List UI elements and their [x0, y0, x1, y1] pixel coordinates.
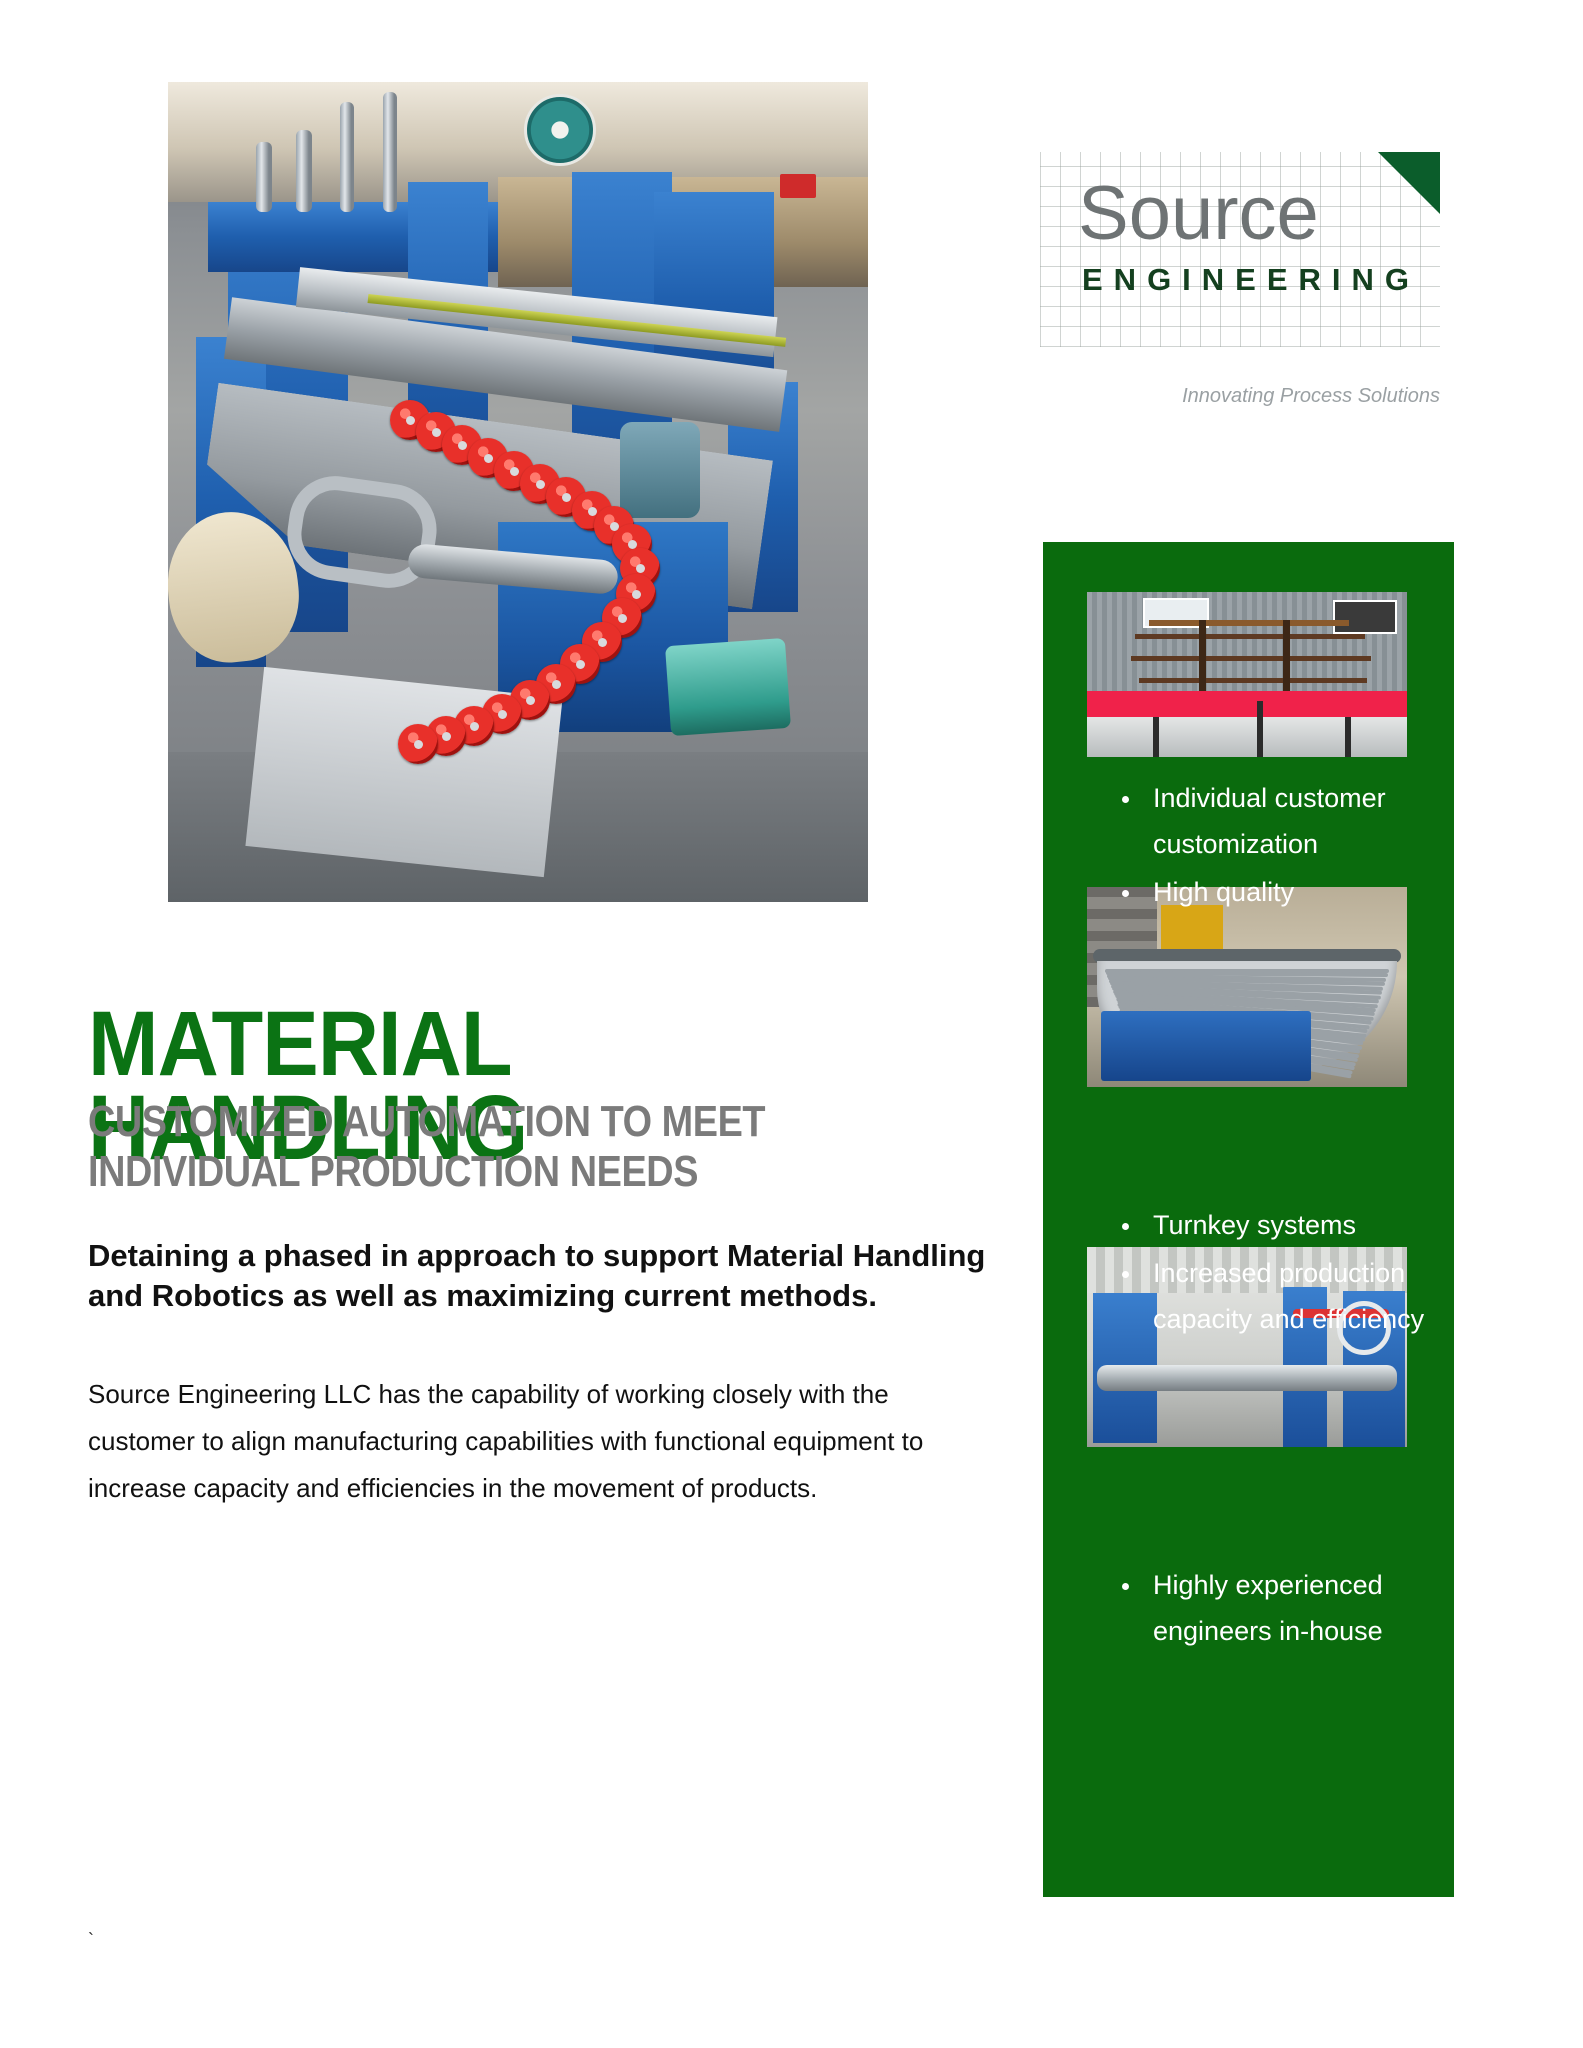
photo-roller-hub: [536, 480, 545, 489]
list-item: Increased production capacity and effici…: [1143, 1250, 1439, 1342]
photo-leg: [1345, 717, 1351, 757]
photo-cylinder: [296, 130, 312, 212]
sidebar-bullet-group-1: Individual customer customization High q…: [1099, 775, 1439, 917]
photo-roller-hub: [510, 467, 519, 476]
photo-window: [1333, 600, 1397, 634]
photo-roller-hub: [458, 441, 467, 450]
photo-belt-wheel: [620, 422, 700, 518]
photo-steel-bar: [1135, 634, 1365, 639]
photo-lumber: [1149, 620, 1349, 626]
photo-blue-conveyor-base: [1101, 1011, 1311, 1081]
photo-roller-hub: [618, 614, 627, 623]
photo-leg: [1153, 717, 1159, 757]
photo-rack-post: [1283, 620, 1290, 692]
company-logo: Source ENGINEERING: [1040, 152, 1440, 347]
list-item: High quality: [1143, 869, 1439, 915]
photo-roller-hub: [552, 680, 561, 689]
list-item: Individual customer customization: [1143, 775, 1439, 867]
photo-motor: [665, 638, 791, 736]
logo-tagline: Innovating Process Solutions: [1160, 385, 1440, 408]
photo-roller-hub: [432, 428, 441, 437]
logo-wordmark: Source: [1078, 176, 1319, 252]
photo-shaft: [1097, 1365, 1397, 1391]
page-subtitle: CUSTOMIZED AUTOMATION TO MEET INDIVIDUAL…: [88, 1097, 845, 1197]
photo-roller-hub: [562, 493, 571, 502]
photo-red-band: [1087, 691, 1407, 717]
photo-rack-post: [1199, 620, 1206, 692]
photo-leg: [1257, 701, 1263, 757]
sidebar-photo-steel-rack: [1087, 592, 1407, 757]
photo-roller-hub: [484, 454, 493, 463]
hero-machine-photo: [168, 82, 868, 902]
photo-exit-sign: [780, 174, 816, 198]
list-item: Highly experienced engineers in-house: [1143, 1562, 1439, 1654]
photo-roller-hub: [628, 540, 637, 549]
list-item: Turnkey systems: [1143, 1202, 1439, 1248]
photo-roller-hub: [498, 710, 507, 719]
photo-roller-hub: [636, 564, 645, 573]
photo-reel: [524, 94, 596, 166]
photo-cylinder: [340, 102, 354, 212]
photo-roller-hub: [576, 660, 585, 669]
photo-roller-hub: [406, 416, 415, 425]
lead-paragraph: Detaining a phased in approach to suppor…: [88, 1236, 988, 1316]
sidebar-bullet-group-3: Highly experienced engineers in-house: [1099, 1562, 1439, 1656]
photo-roller-hub: [526, 696, 535, 705]
sidebar-bullet-group-2: Turnkey systems Increased production cap…: [1099, 1202, 1439, 1344]
photo-red-roller: [398, 724, 438, 764]
photo-steel-bar: [1131, 656, 1371, 661]
sidebar-photo-curved-conveyor: [1087, 887, 1407, 1087]
body-paragraph: Source Engineering LLC has the capabilit…: [88, 1371, 998, 1512]
photo-roller-hub: [470, 722, 479, 731]
logo-subword: ENGINEERING: [1082, 264, 1420, 295]
photo-roller-hub: [632, 590, 641, 599]
photo-cylinder: [383, 92, 397, 212]
photo-roller-hub: [442, 732, 451, 741]
green-sidebar: Individual customer customization High q…: [1043, 542, 1454, 1897]
photo-base-frame: [1087, 717, 1407, 757]
photo-cylinder: [256, 142, 272, 212]
photo-roller-hub: [598, 638, 607, 647]
logo-corner-triangle-icon: [1378, 152, 1440, 214]
photo-roller-hub: [414, 740, 423, 749]
photo-roller-hub: [588, 507, 597, 516]
photo-steel-bar: [1139, 678, 1367, 683]
stray-backtick-mark: `: [88, 1930, 94, 1951]
